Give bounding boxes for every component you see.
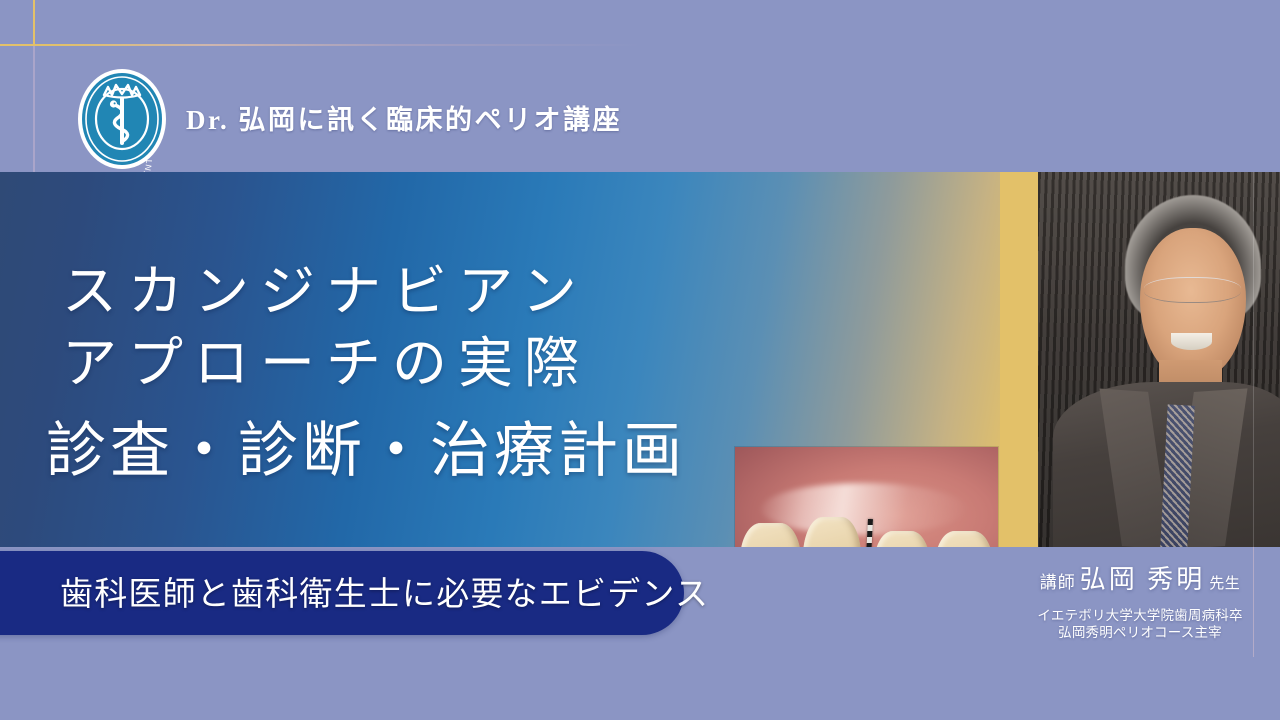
speaker-portrait-column (1000, 172, 1280, 547)
hero-title-line-2: アプローチの実際 (62, 328, 590, 400)
decorative-horizontal-gold-line (0, 44, 640, 46)
header-band: SWEDEN · DENTAL · CENTER Dr. 弘岡に訊く臨床的ペリオ… (0, 0, 1280, 172)
hero-subtitle: 診査・診断・治療計画 (46, 412, 686, 490)
speaker-name: 弘岡 秀明 (1076, 565, 1210, 594)
speaker-honorific: 先生 (1209, 576, 1240, 592)
decorative-vertical-gold-line (33, 0, 35, 46)
portrait-glasses-icon (1144, 277, 1241, 303)
evidence-banner-label: 歯科医師と歯科衛生士に必要なエビデンス (60, 567, 709, 615)
speaker-portrait-photo (1038, 172, 1280, 547)
hero-title-block: スカンジナビアン アプローチの実際 (62, 256, 590, 400)
intraoral-clinical-photo (735, 447, 998, 547)
speaker-name-row: 講師弘岡 秀明先生 (1000, 565, 1280, 599)
speaker-role-label: 講師 (1040, 573, 1076, 592)
portrait-face (1140, 228, 1246, 378)
sweden-dental-center-seal-icon: SWEDEN · DENTAL · CENTER (68, 65, 176, 172)
speaker-credential-line-1: イエテボリ大学大学院歯周病科卒 (1000, 607, 1280, 624)
photo-gingiva-highlight (761, 483, 966, 535)
page-title: Dr. 弘岡に訊く臨床的ペリオ講座 (186, 98, 622, 137)
main-hero-panel: スカンジナビアン アプローチの実際 診査・診断・治療計画 (0, 172, 1000, 547)
hero-title-line-1: スカンジナビアン (62, 256, 590, 328)
speaker-credential-line-2: 弘岡秀明ペリオコース主宰 (1000, 624, 1280, 641)
speaker-info: 講師弘岡 秀明先生 イエテボリ大学大学院歯周病科卒 弘岡秀明ペリオコース主宰 (1000, 565, 1280, 641)
decorative-vertical-lavender-line (33, 46, 35, 172)
decorative-edge-line (1253, 172, 1254, 547)
